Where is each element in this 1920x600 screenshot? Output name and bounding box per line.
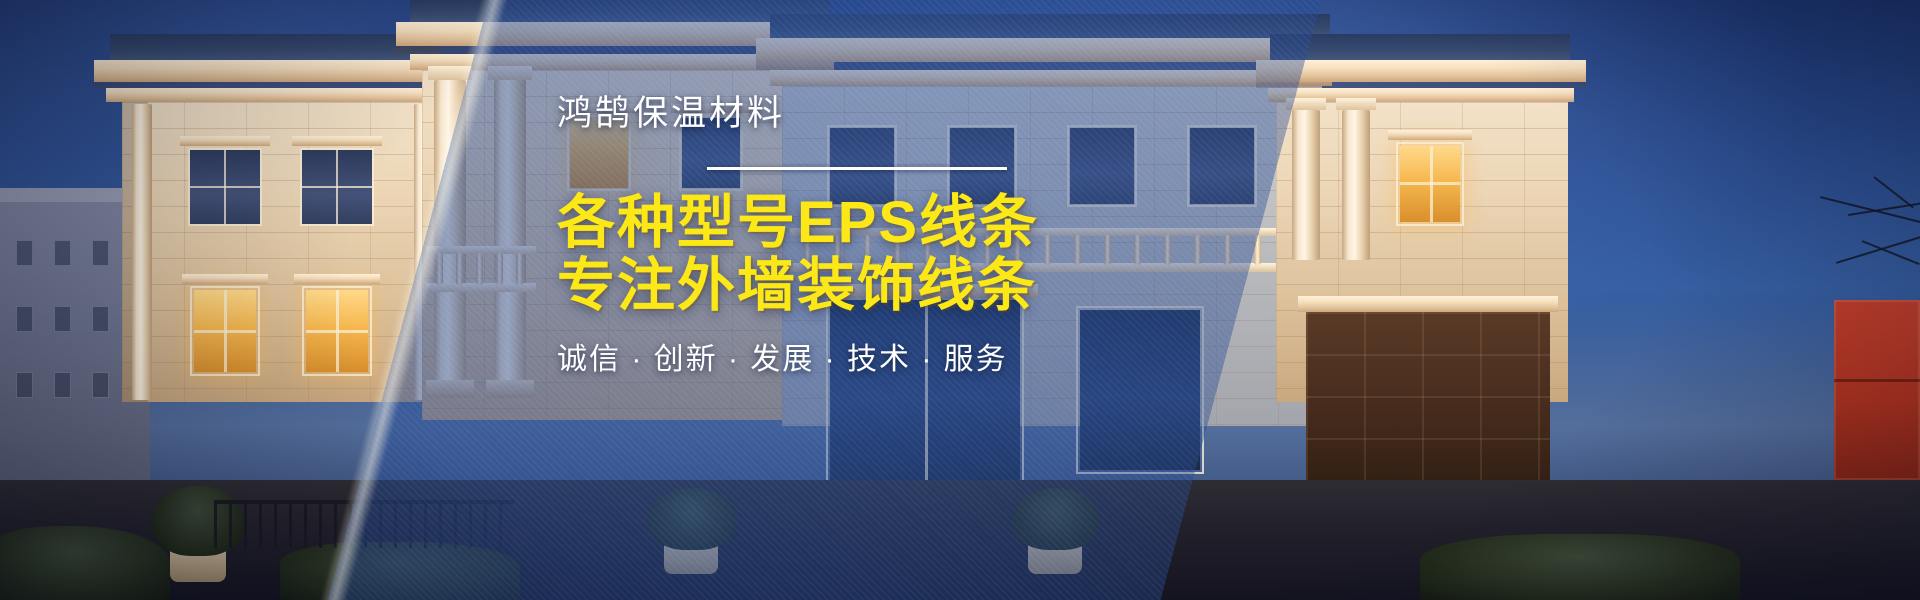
- brand-eyebrow: 鸿鹄保温材料: [557, 96, 1257, 131]
- banner-copy-block: 鸿鹄保温材料 各种型号EPS线条 专注外墙装饰线条 诚信 · 创新 · 发展 ·…: [557, 96, 1257, 375]
- divider-rule: [707, 167, 1007, 170]
- hero-banner: 鸿鹄保温材料 各种型号EPS线条 专注外墙装饰线条 诚信 · 创新 · 发展 ·…: [0, 0, 1920, 600]
- shrub-right: [1012, 488, 1100, 550]
- hedge-mid: [280, 542, 520, 600]
- hedge-far-left: [0, 526, 170, 600]
- iron-fence: [214, 500, 514, 548]
- headline-line-2: 专注外墙装饰线条: [557, 254, 1257, 317]
- headline-line-1: 各种型号EPS线条: [557, 190, 1039, 255]
- hedge-right: [1420, 534, 1740, 600]
- right-red-object: [1834, 300, 1920, 480]
- headline: 各种型号EPS线条 专注外墙装饰线条: [557, 191, 1257, 317]
- shrub-center: [648, 488, 736, 550]
- tagline: 诚信 · 创新 · 发展 · 技术 · 服务: [557, 345, 1257, 375]
- garage-door: [1306, 312, 1550, 484]
